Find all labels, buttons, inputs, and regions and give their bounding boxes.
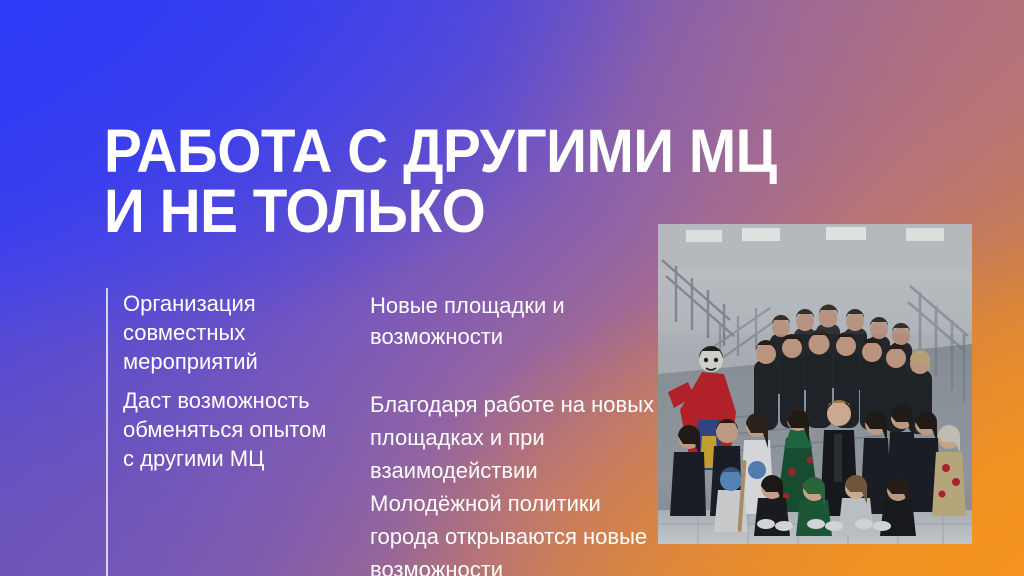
column-left-heading: Организация совместных мероприятий <box>123 289 328 376</box>
content-column-left: Организация совместных мероприятий Даст … <box>123 289 328 473</box>
presentation-slide: Работа с другими МЦ и не только Организа… <box>0 0 1024 576</box>
page-title: Работа с другими МЦ и не только <box>104 121 885 241</box>
vertical-divider <box>106 288 108 576</box>
column-middle-heading: Новые площадки и возможности <box>370 290 660 352</box>
column-middle-body: Благодаря работе на новых площадках и пр… <box>370 388 660 576</box>
group-photo-illustration <box>658 224 972 544</box>
content-column-middle: Новые площадки и возможности Благодаря р… <box>370 290 660 576</box>
group-photo <box>658 224 972 544</box>
column-left-body: Даст возможность обменяться опытом с дру… <box>123 386 328 473</box>
